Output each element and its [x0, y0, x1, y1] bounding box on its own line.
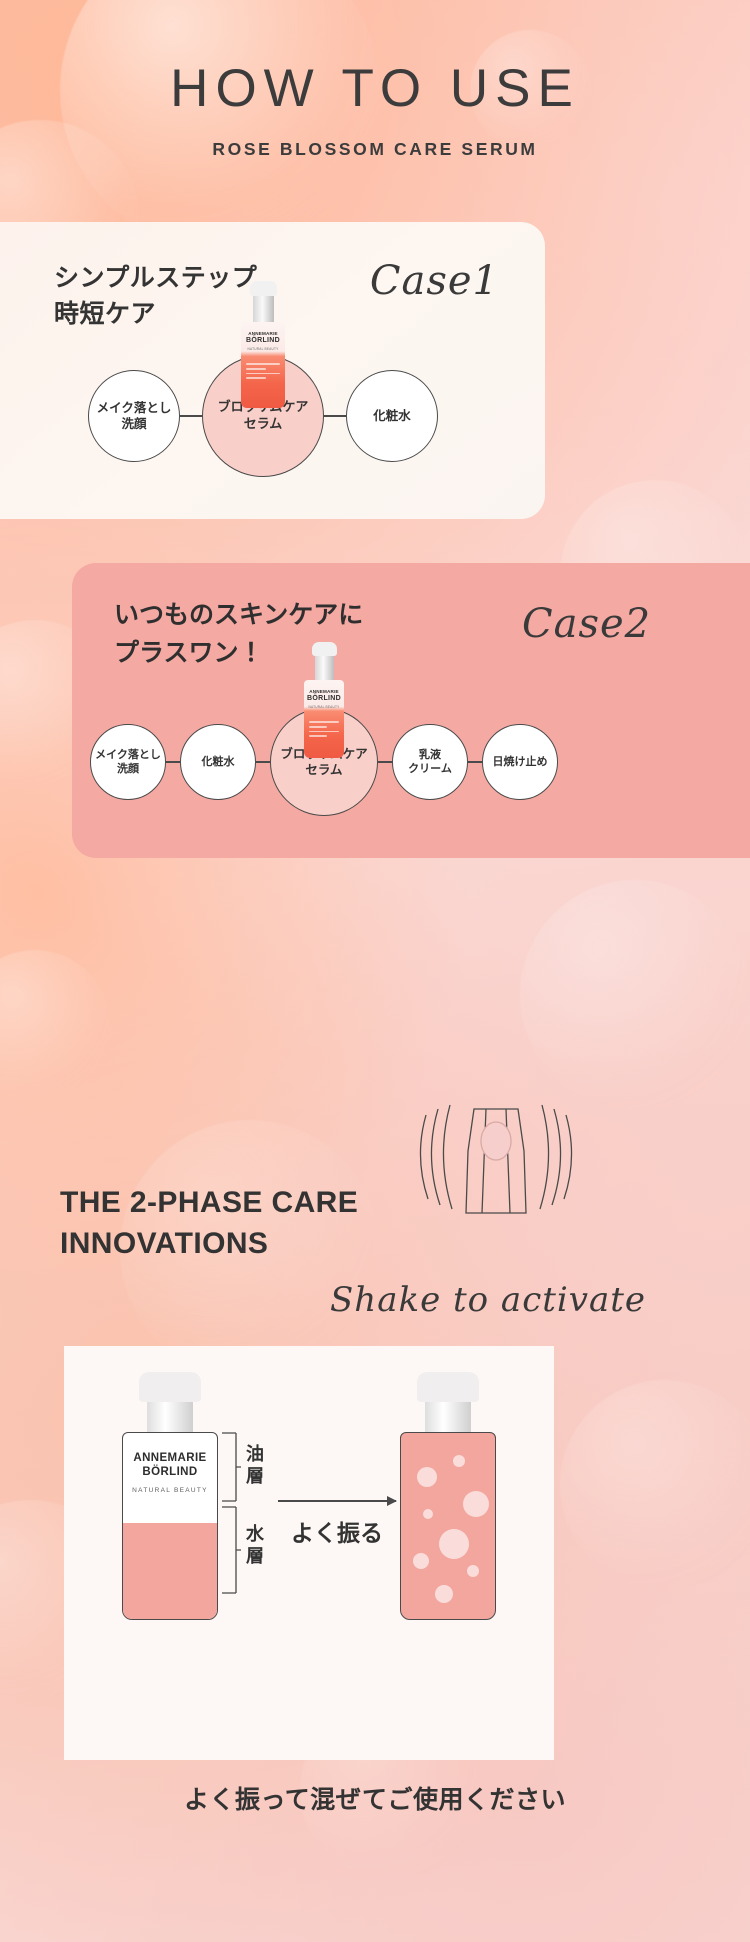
oil-layer-brace: [220, 1432, 242, 1507]
case2-heading-line1: いつものスキンケアに: [114, 597, 363, 635]
step-label-line1: ブロッサムケア: [280, 746, 367, 762]
bottle-label: ANNEMARIE BÖRLIND NATURAL BEAUTY: [123, 1433, 217, 1494]
step-label-line2: クリーム: [408, 762, 452, 776]
phase-caption: よく振って混ぜてご使用ください: [0, 1780, 750, 1816]
mix-bubble: [467, 1565, 479, 1577]
case2-heading-line2: プラスワン！: [114, 635, 363, 673]
bottle-water-layer: [123, 1523, 217, 1619]
step-label-line1: 乳液: [419, 748, 441, 762]
step-connector: [166, 761, 180, 762]
water-layer-brace: [220, 1506, 242, 1599]
case2-step-1[interactable]: メイク落とし 洗顔: [90, 724, 166, 800]
case1-heading: シンプルステップ 時短ケア: [54, 260, 257, 333]
bottle-mixed: [400, 1372, 496, 1620]
bottle-neck: [425, 1402, 471, 1432]
bottle-body: [400, 1432, 496, 1620]
mix-bubble: [423, 1509, 433, 1519]
phase-title-line1: THE 2-PHASE CARE: [60, 1182, 358, 1223]
step-connector: [256, 761, 270, 762]
mix-bubble: [439, 1529, 469, 1559]
arrow-label: よく振る: [278, 1514, 396, 1548]
water-layer-text: 水層: [246, 1524, 264, 1566]
step-label-line2: セラム: [244, 416, 283, 433]
mix-bubble: [463, 1491, 489, 1517]
case2-step-2[interactable]: 化粧水: [180, 724, 256, 800]
case2-step-4[interactable]: 乳液 クリーム: [392, 724, 468, 800]
page-subtitle: ROSE BLOSSOM CARE SERUM: [0, 139, 750, 160]
case1-heading-line1: シンプルステップ: [54, 260, 257, 296]
step-label-line2: セラム: [305, 762, 342, 778]
step-label-line2: 洗顔: [121, 416, 146, 432]
case2-step-5[interactable]: 日焼け止め: [482, 724, 558, 800]
step-label-line1: ブロッサムケア: [218, 399, 309, 416]
arrow-line-icon: [278, 1500, 396, 1502]
step-label-line1: メイク落とし: [97, 400, 172, 416]
step-label-line1: 化粧水: [202, 755, 235, 769]
case2-heading: いつものスキンケアに プラスワン！: [114, 597, 363, 672]
case1-label: Case1: [370, 258, 499, 304]
hero-header: HOW TO USE ROSE BLOSSOM CARE SERUM: [0, 0, 750, 160]
mix-bubble: [413, 1553, 429, 1569]
oil-layer-label: 油層: [240, 1444, 270, 1487]
step-connector: [324, 415, 346, 416]
case2-step-flow: メイク落とし 洗顔 化粧水 ANNEMARIE BÖRLIND NATURAL …: [90, 708, 558, 816]
step-connector: [180, 415, 202, 416]
step-connector: [468, 761, 482, 762]
shake-motion-icon: [396, 1095, 596, 1230]
step-label-line1: 日焼け止め: [493, 755, 548, 769]
case1-step-1[interactable]: メイク落とし 洗顔: [88, 370, 180, 462]
case2-step-3-main[interactable]: ANNEMARIE BÖRLIND NATURAL BEAUTY ブロッサムケア…: [270, 708, 378, 816]
bottle-text-lines: [241, 363, 285, 378]
bottle-body: ANNEMARIE BÖRLIND NATURAL BEAUTY: [122, 1432, 218, 1620]
step-connector: [378, 761, 392, 762]
bottle-text-lines: [304, 721, 344, 736]
case1-step-3[interactable]: 化粧水: [346, 370, 438, 462]
shake-to-activate-script: Shake to activate: [330, 1280, 646, 1320]
step-label-line1: メイク落とし: [95, 748, 161, 762]
bottle-neck: [147, 1402, 193, 1432]
case2-label: Case2: [522, 601, 651, 647]
page-title: HOW TO USE: [0, 62, 750, 115]
mix-bubble: [435, 1585, 453, 1603]
step-label-line2: 洗顔: [117, 762, 139, 776]
bottle-cap: [139, 1372, 201, 1402]
case1-heading-line2: 時短ケア: [54, 296, 257, 332]
water-layer-label: 水層: [240, 1524, 270, 1567]
case1-step-2-main[interactable]: ANNEMARIE BÖRLIND NATURAL BEAUTY ブロッサムケア…: [202, 355, 324, 477]
case1-step-flow: メイク落とし 洗顔 ANNEMARIE BÖRLIND NATURAL BEAU…: [88, 355, 438, 477]
shake-arrow: よく振る: [278, 1500, 396, 1548]
background-bubble: [520, 880, 750, 1110]
mix-bubble: [417, 1467, 437, 1487]
brand-line2: BÖRLIND: [123, 1465, 217, 1479]
brand-line3: NATURAL BEAUTY: [123, 1487, 217, 1494]
mix-bubble: [453, 1455, 465, 1467]
phase-title-line2: INNOVATIONS: [60, 1223, 358, 1264]
brand-line1: ANNEMARIE: [123, 1451, 217, 1465]
step-label-line1: 化粧水: [373, 408, 411, 424]
bottle-unmixed: ANNEMARIE BÖRLIND NATURAL BEAUTY: [122, 1372, 218, 1620]
oil-layer-text: 油層: [246, 1444, 264, 1486]
bottle-cap: [417, 1372, 479, 1402]
phase-title: THE 2-PHASE CARE INNOVATIONS: [60, 1182, 358, 1265]
